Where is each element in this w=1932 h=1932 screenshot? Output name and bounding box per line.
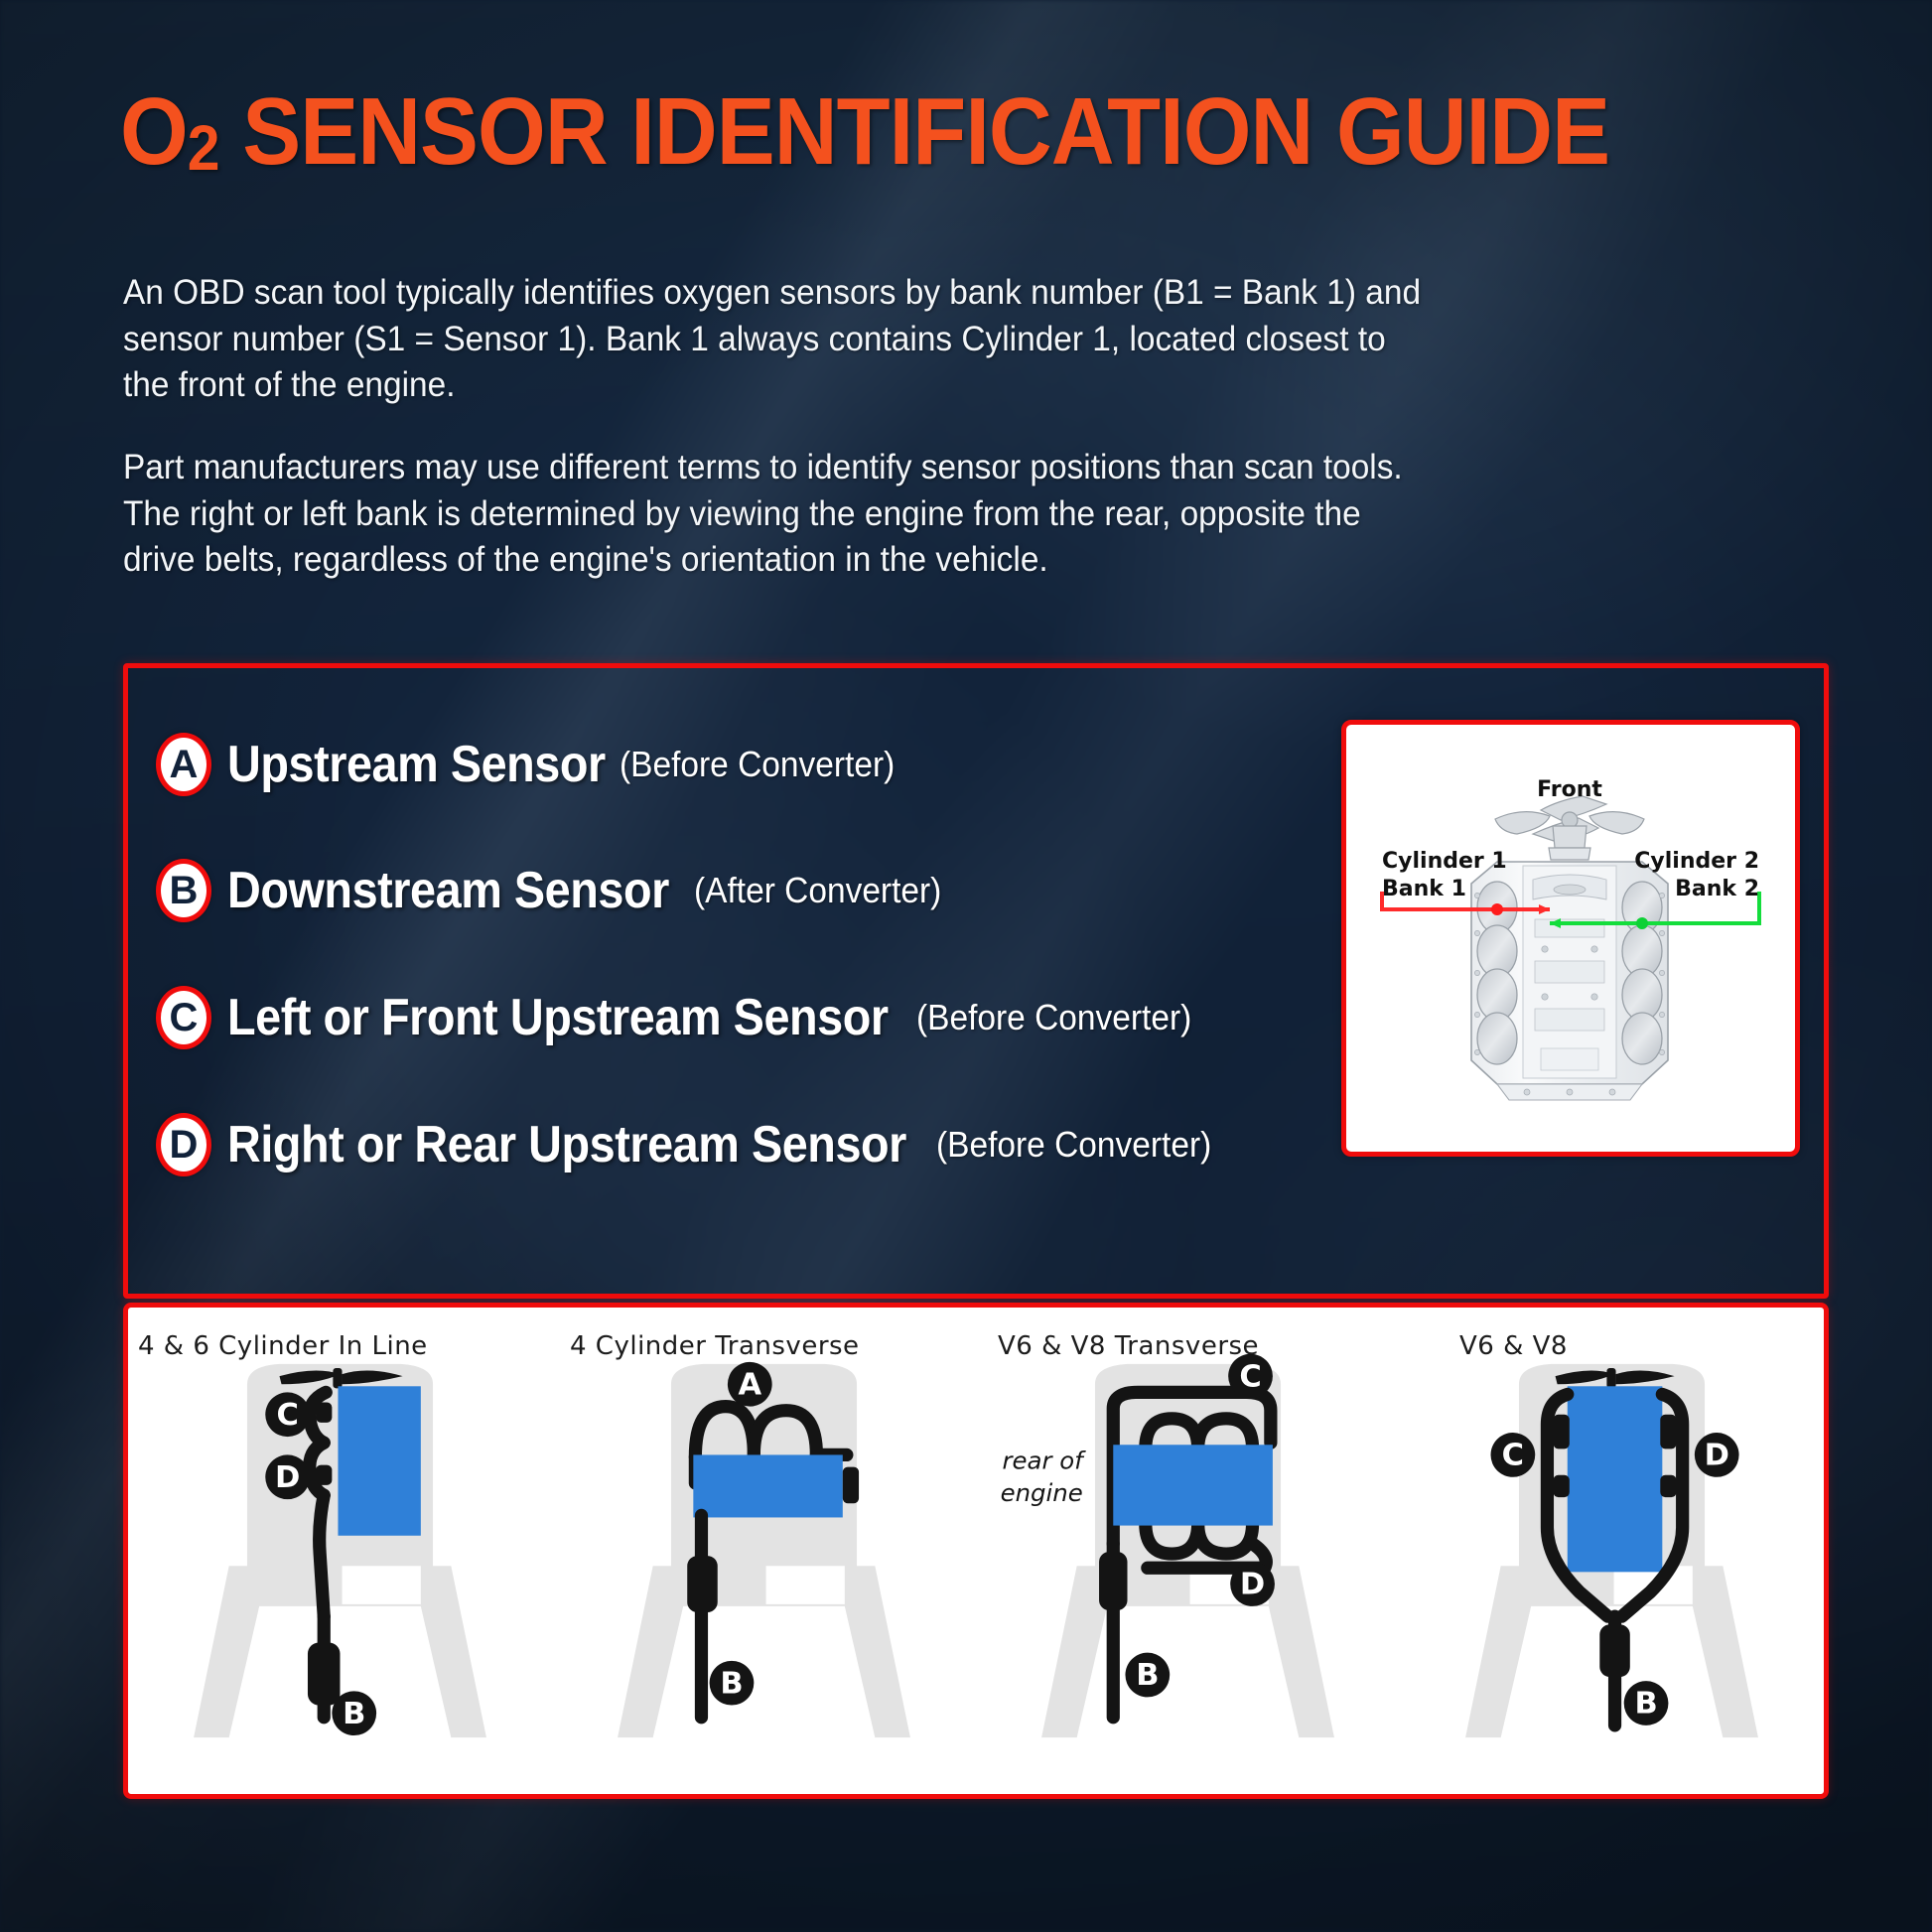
cylinder2-label: Cylinder 2 — [1634, 849, 1759, 874]
legend-item-a: A Upstream Sensor (Before Converter) — [156, 733, 915, 796]
diagram-transverse-v6v8: V6 & V8 Transverse rear of engine — [976, 1308, 1400, 1794]
intro-paragraph-2: Part manufacturers may use different ter… — [123, 445, 1441, 584]
badge-d: D — [1230, 1562, 1275, 1606]
svg-text:B: B — [1634, 1687, 1657, 1722]
vehicle-layouts-panel: 4 & 6 Cylinder In Line — [123, 1303, 1829, 1799]
catalytic-converter — [687, 1556, 718, 1612]
svg-text:B: B — [1136, 1658, 1159, 1693]
page-title: O2 SENSOR IDENTIFICATION GUIDE — [120, 77, 1609, 187]
rear-of-engine-note-line2: engine — [1001, 1478, 1083, 1507]
longitudinal-v-engine-layout: C D B — [1400, 1308, 1824, 1794]
svg-text:C: C — [276, 1398, 298, 1433]
engine-block — [1113, 1445, 1273, 1525]
intro-paragraph-1: An OBD scan tool typically identifies ox… — [123, 270, 1441, 409]
engine-block — [338, 1386, 420, 1535]
page-title-subscript: 2 — [188, 112, 219, 184]
rear-of-engine-note-line1: rear of — [1002, 1447, 1086, 1475]
engine-block — [1568, 1386, 1663, 1572]
badge-b: B — [1125, 1653, 1170, 1698]
badge-b: B — [332, 1691, 376, 1735]
legend-note-c: (Before Converter) — [916, 997, 1191, 1038]
badge-c: C — [1228, 1354, 1273, 1399]
bank1-label: Bank 1 — [1382, 877, 1466, 901]
legend-box: A Upstream Sensor (Before Converter) B D… — [123, 663, 1829, 1299]
transmission — [843, 1467, 859, 1504]
infographic-page: O2 SENSOR IDENTIFICATION GUIDE An OBD sc… — [0, 0, 1932, 1932]
svg-text:C: C — [1502, 1439, 1524, 1473]
transverse-v-engine-layout: rear of engine — [976, 1308, 1400, 1794]
page-title-o: O — [120, 78, 188, 185]
catalytic-converter — [308, 1643, 341, 1706]
legend-note-a: (Before Converter) — [620, 744, 895, 785]
svg-text:D: D — [275, 1460, 300, 1495]
diagram-inline-4-6cyl: 4 & 6 Cylinder In Line — [128, 1308, 552, 1794]
svg-text:B: B — [343, 1697, 365, 1731]
engine-bank-diagram: Front — [1346, 725, 1795, 1152]
badge-d: D — [265, 1454, 310, 1499]
legend-item-d: D Right or Rear Upstream Sensor (Before … — [156, 1113, 1232, 1176]
engine-bank-diagram-card: Front — [1341, 720, 1800, 1157]
svg-text:A: A — [738, 1367, 761, 1402]
legend-badge-c: C — [156, 986, 211, 1049]
legend-item-c: C Left or Front Upstream Sensor (Before … — [156, 986, 1212, 1049]
badge-c: C — [1491, 1433, 1536, 1477]
badge-b: B — [1624, 1681, 1669, 1725]
legend-label-b: Downstream Sensor — [227, 861, 669, 920]
legend-badge-d: D — [156, 1113, 211, 1176]
legend-badge-b: B — [156, 859, 211, 922]
badge-a: A — [728, 1362, 772, 1407]
catalytic-converter — [1599, 1624, 1630, 1677]
svg-text:B: B — [720, 1666, 743, 1701]
legend-label-a: Upstream Sensor — [227, 735, 606, 794]
legend-label-d: Right or Rear Upstream Sensor — [227, 1115, 906, 1174]
engine-front-label: Front — [1537, 777, 1602, 802]
badge-c: C — [265, 1392, 310, 1437]
legend-note-b: (After Converter) — [694, 870, 941, 911]
cylinder1-label: Cylinder 1 — [1382, 849, 1507, 874]
svg-text:D: D — [1705, 1439, 1729, 1473]
engine-block — [693, 1454, 842, 1517]
badge-d: D — [1695, 1433, 1739, 1477]
bank2-label: Bank 2 — [1675, 877, 1759, 901]
svg-text:D: D — [1240, 1568, 1265, 1602]
catalytic-converter — [1099, 1552, 1127, 1610]
transverse4-engine-layout: A B — [552, 1308, 976, 1794]
page-title-rest: SENSOR IDENTIFICATION GUIDE — [219, 78, 1610, 185]
legend-note-d: (Before Converter) — [936, 1124, 1211, 1166]
inline-engine-layout: C D B — [128, 1308, 552, 1794]
svg-text:C: C — [1239, 1359, 1261, 1394]
diagram-longitudinal-v6v8: V6 & V8 — [1400, 1308, 1824, 1794]
legend-badge-a: A — [156, 733, 211, 796]
legend-item-b: B Downstream Sensor (After Converter) — [156, 859, 960, 922]
badge-b: B — [710, 1661, 755, 1706]
legend-label-c: Left or Front Upstream Sensor — [227, 988, 889, 1047]
diagram-transverse-4cyl: 4 Cylinder Transverse — [552, 1308, 976, 1794]
